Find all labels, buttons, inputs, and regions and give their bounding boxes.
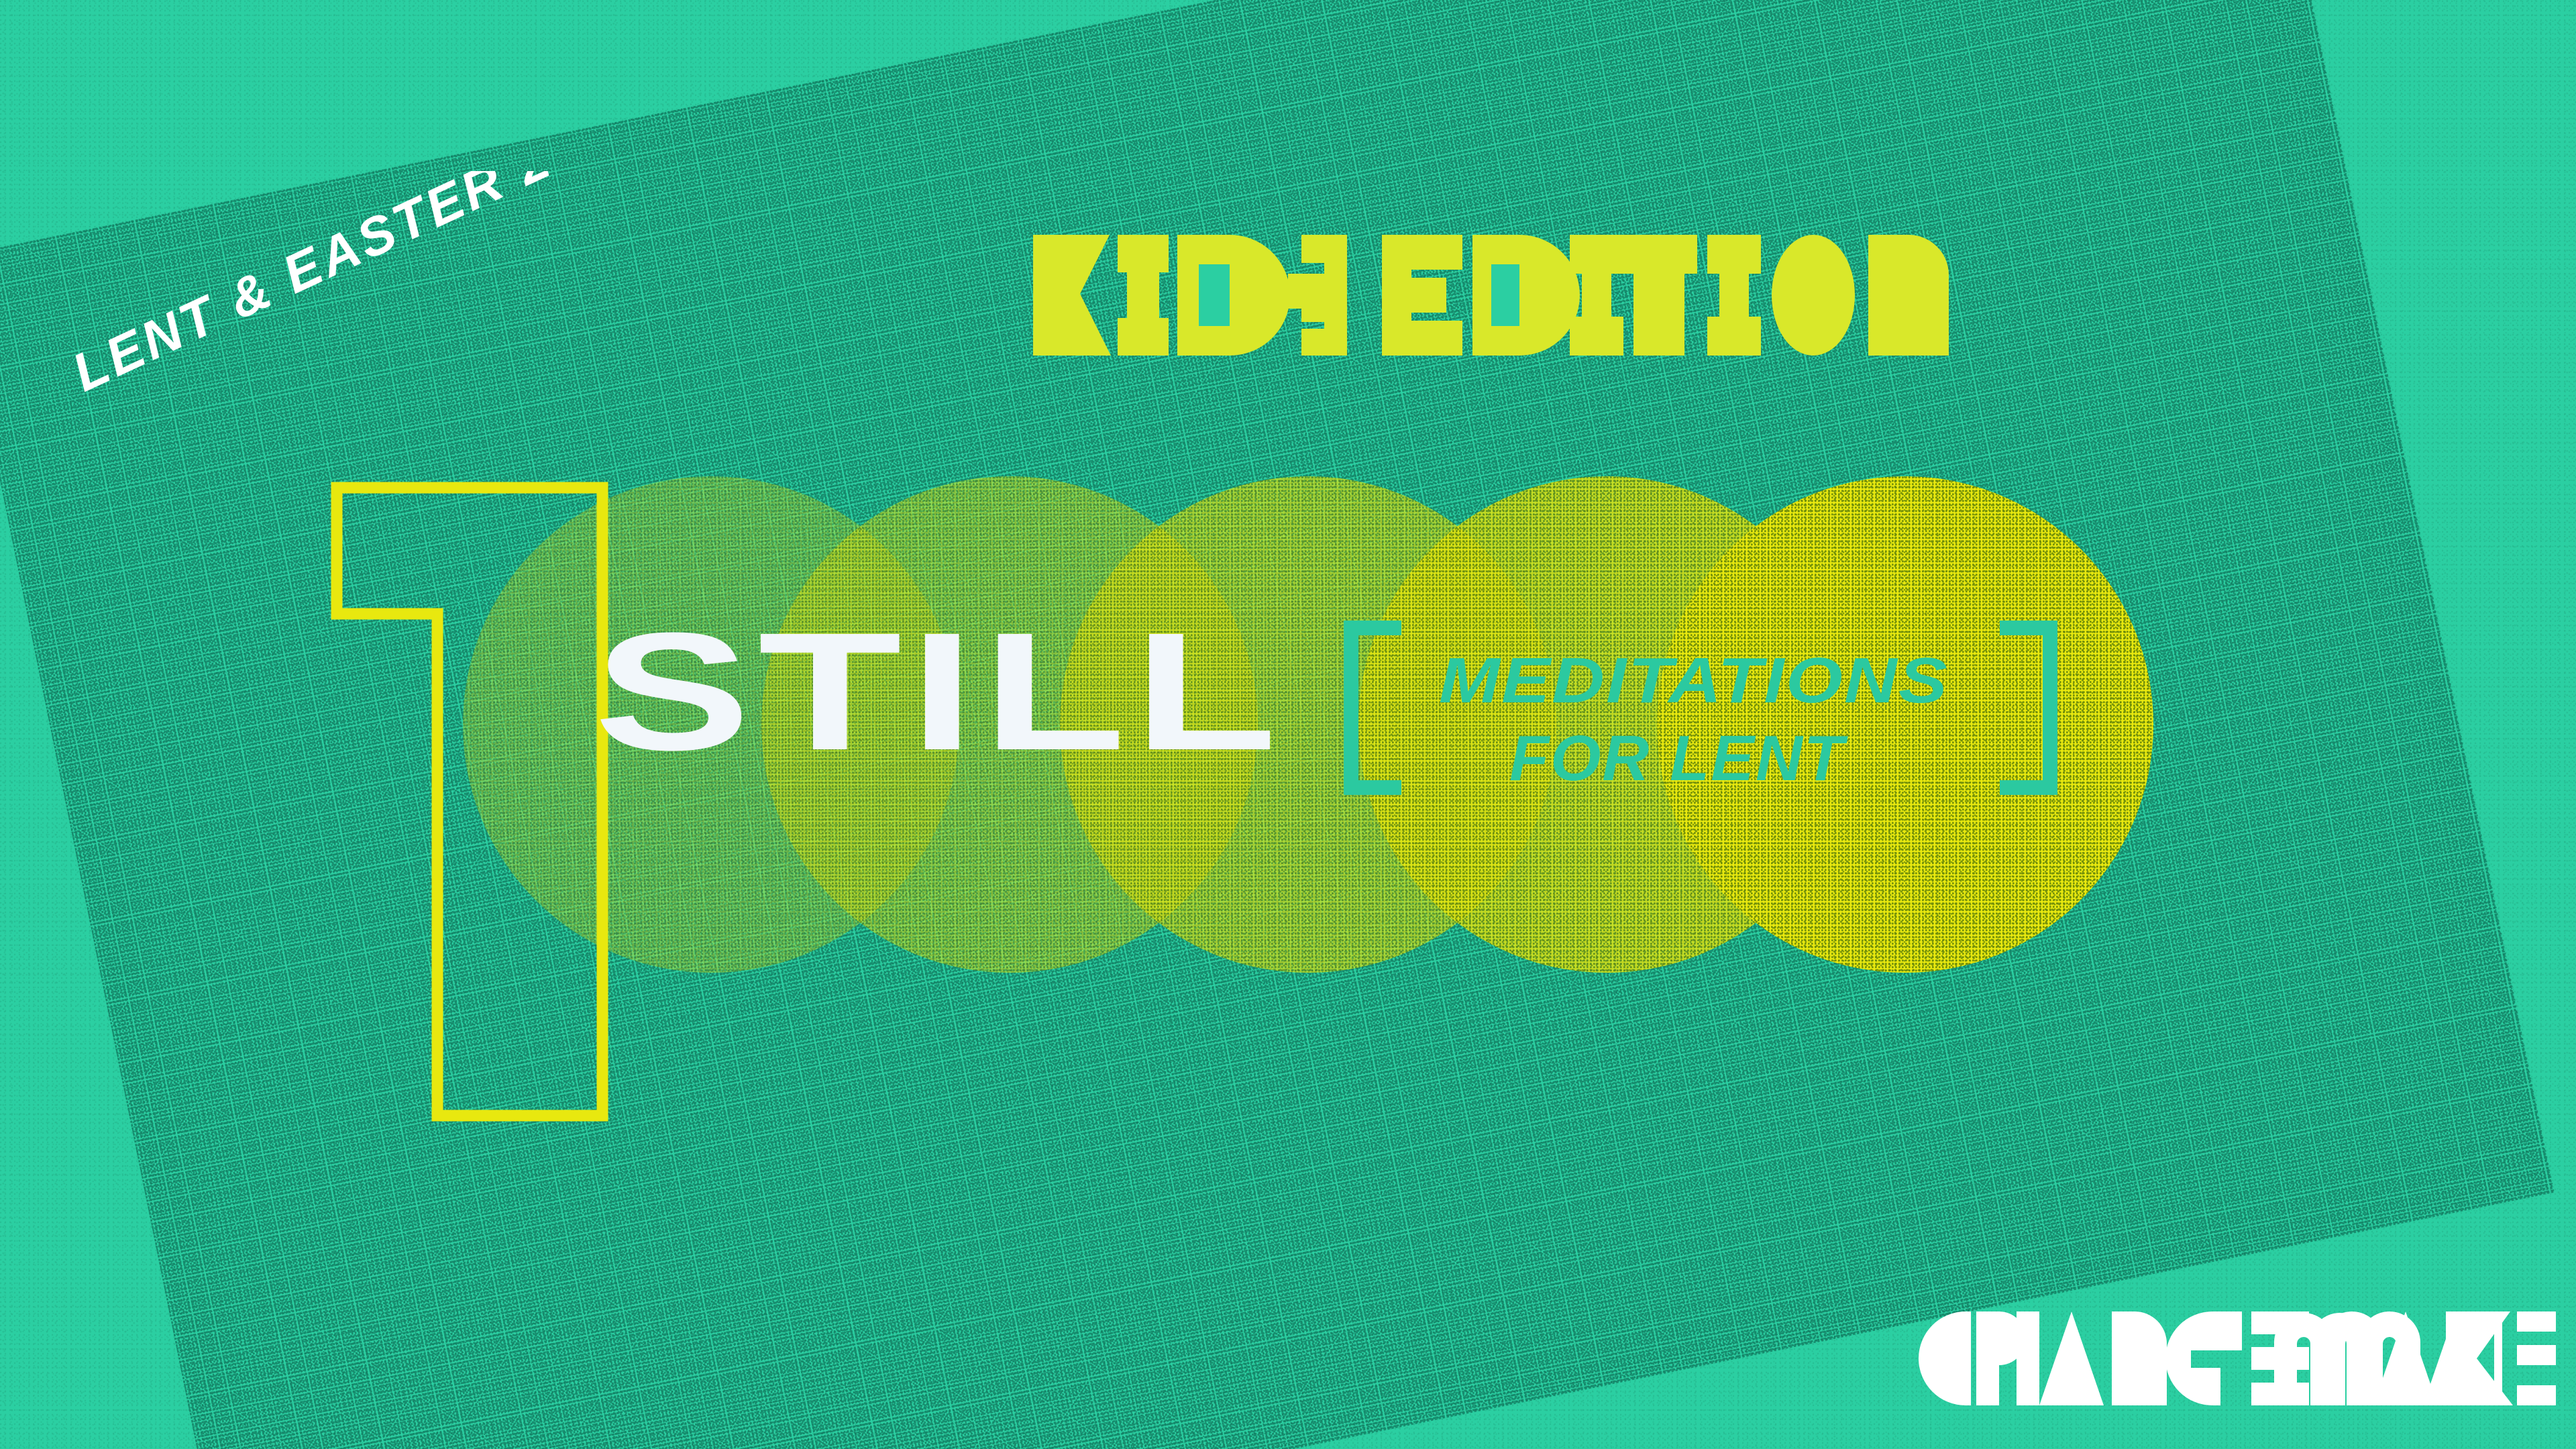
eyebrow-label: LENT & EASTER 2022 [64,171,735,463]
numeral-one-outline-icon [329,480,610,1124]
brand-logo-tail[interactable] [2274,1311,2556,1409]
subtitle-line1: MEDITATIONS [1439,645,1949,716]
still-title-text: STILL [594,621,1285,782]
bracket-right-icon [2000,621,2057,795]
kids-edition-glyphs [1033,235,1949,356]
issue-numeral [329,480,610,1127]
eyebrow-svg: LENT & EASTER 2022 [64,171,735,460]
subtitle-block: MEDITATIONS FOR LENT [1338,621,2063,798]
subtitle-line2: FOR LENT [1509,722,1848,794]
kids-edition-wordmark [1033,235,2200,356]
subtitle-svg: MEDITATIONS FOR LENT [1338,621,2063,795]
kicker-label [1033,235,2200,359]
title-card-canvas: LENT & EASTER 2022 [0,0,2576,1449]
bracket-left-icon [1344,621,1401,795]
eyebrow-text: LENT & EASTER 2022 [64,171,651,402]
still-title-svg: STILL [594,621,1305,782]
main-title: STILL [594,621,1305,785]
changemaker-tail-glyphs [2274,1311,2556,1405]
